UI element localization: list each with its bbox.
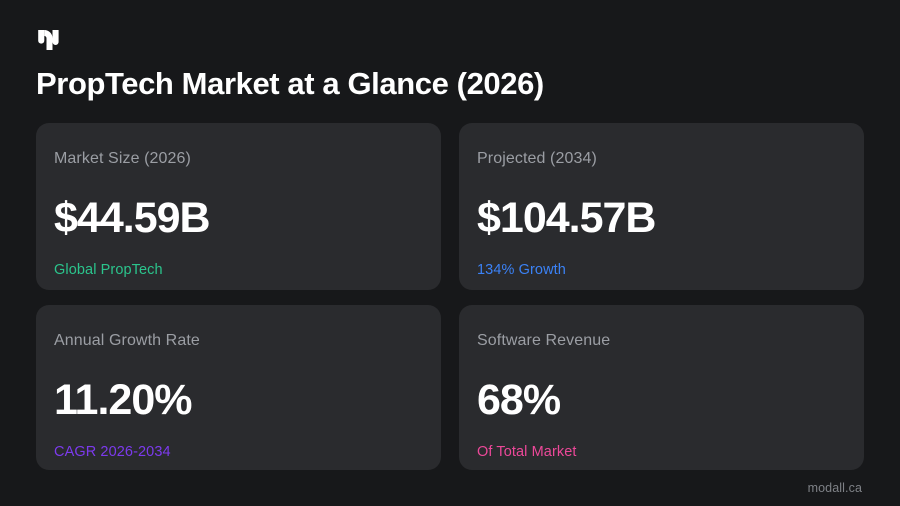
stat-card-label: Market Size (2026) xyxy=(54,149,441,168)
logo-row xyxy=(36,20,864,60)
stat-card-market-size: Market Size (2026) $44.59B Global PropTe… xyxy=(36,123,441,290)
stat-card-software-revenue: Software Revenue 68% Of Total Market xyxy=(459,305,864,470)
stat-card-value: 68% xyxy=(477,379,864,422)
stat-card-growth-rate: Annual Growth Rate 11.20% CAGR 2026-2034 xyxy=(36,305,441,470)
stat-card-subtext: CAGR 2026-2034 xyxy=(54,444,441,461)
stat-card-subtext: Global PropTech xyxy=(54,262,441,279)
page-title: PropTech Market at a Glance (2026) xyxy=(36,66,864,102)
stat-card-subtext: 134% Growth xyxy=(477,262,864,279)
modall-logo-icon xyxy=(36,27,62,53)
stat-card-value: $44.59B xyxy=(54,197,441,240)
stat-card-value: $104.57B xyxy=(477,197,864,240)
stat-card-label: Projected (2034) xyxy=(477,149,864,168)
stat-card-projected: Projected (2034) $104.57B 134% Growth xyxy=(459,123,864,290)
infographic-page: PropTech Market at a Glance (2026) Marke… xyxy=(0,0,900,506)
footer-brand-label: modall.ca xyxy=(808,481,862,495)
footer: modall.ca xyxy=(36,470,864,506)
stat-card-grid: Market Size (2026) $44.59B Global PropTe… xyxy=(36,123,864,470)
stat-card-subtext: Of Total Market xyxy=(477,444,864,461)
stat-card-value: 11.20% xyxy=(54,379,441,422)
stat-card-label: Annual Growth Rate xyxy=(54,331,441,350)
stat-card-label: Software Revenue xyxy=(477,331,864,350)
